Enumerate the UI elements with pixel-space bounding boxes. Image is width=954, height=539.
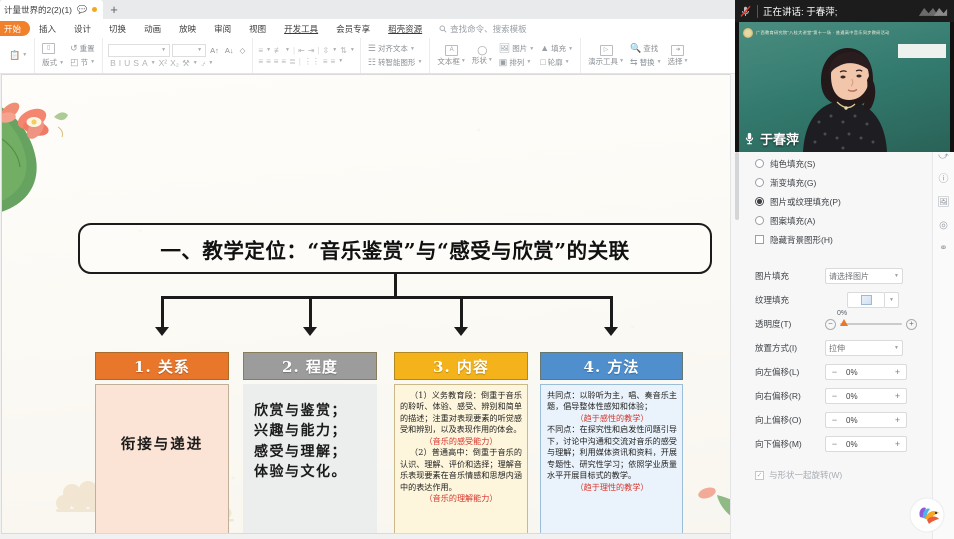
radio-picture-texture-fill-label: 图片或纹理填充(P)	[770, 196, 841, 208]
sort-icon[interactable]: ⇅	[340, 46, 347, 55]
column-4-paragraph: 不同点：在探究性和启发性问题引导下，讨论中沟通和交流对音乐的感受与理解；利用媒体…	[547, 424, 677, 481]
tab-review[interactable]: 审阅	[205, 23, 240, 35]
smart-art-icon: ☷	[368, 58, 376, 67]
picture-fill-label: 图片填充	[741, 270, 825, 282]
search-icon	[439, 25, 447, 33]
font-color-icon[interactable]: ⍻	[201, 59, 206, 68]
chevron-down-icon: ▼	[332, 47, 337, 53]
column-3-header[interactable]: 3. 内容	[394, 352, 528, 380]
chevron-down-icon: ▼	[684, 58, 689, 64]
paste-icon: 📋	[9, 51, 20, 60]
text-highlight-icon[interactable]: ⚒	[182, 59, 190, 68]
replace-button[interactable]: ⇆ 替换 ▼	[628, 57, 664, 68]
connector-drop-3	[460, 296, 463, 330]
column-1-header[interactable]: 1. 关系	[95, 352, 229, 380]
section-icon: ◰	[70, 58, 79, 67]
speaker-name-badge: 于春萍	[743, 129, 799, 148]
reset-button[interactable]: ↺ 重置	[68, 43, 97, 54]
select-icon: ➜	[671, 45, 684, 56]
ribbon-group-clipboard: 📋 ▼	[2, 38, 35, 73]
find-label: 查找	[643, 44, 658, 53]
offset-bottom-stepper[interactable]: − 0% +	[825, 436, 907, 452]
video-overlay[interactable]: 正在讲话: 于春萍; 广西教育研究院“八桂大讲堂”第十一场 · 普通高中音乐同步…	[735, 0, 954, 152]
select-label: 选择	[668, 57, 683, 66]
offset-left-stepper[interactable]: − 0% +	[825, 364, 907, 380]
column-2-header-label: 2. 程度	[282, 356, 338, 377]
tab-insert[interactable]: 插入	[30, 23, 65, 35]
placement-label: 放置方式(I)	[741, 342, 825, 354]
placement-row: 放置方式(I) 拉伸 ▼	[741, 337, 922, 359]
fill-label: 填充	[551, 44, 566, 53]
layout-button[interactable]: 版式 ▼	[40, 57, 66, 68]
texture-dropdown-button[interactable]: ▼	[885, 292, 899, 308]
search-icon: 🔍	[630, 44, 641, 53]
outline-label: 轮廓	[548, 58, 563, 67]
offset-right-label: 向右偏移(R)	[741, 390, 825, 402]
ribbon-group-text-align: ☰ 对齐文本 ▼ ☷ 转智能图形 ▼	[361, 38, 431, 73]
column-3-paragraph: （1）义务教育段：倒重于音乐的聆听、体验、感受、辨别和简单的描述；注重对表现要素…	[400, 390, 522, 436]
plus-icon[interactable]: +	[889, 392, 906, 401]
chevron-down-icon: ▼	[161, 47, 166, 53]
ribbon-group-tools: ▷ 演示工具 ▼ 🔍 查找 ⇆ 替换 ▼ ➜	[581, 38, 695, 73]
column-4-header-label: 4. 方法	[584, 356, 640, 377]
align-right-icon[interactable]: ≡	[274, 57, 279, 66]
chevron-down-icon: ▼	[410, 46, 415, 52]
shape-label: 形状	[472, 56, 487, 65]
checkbox-hide-background-graphics[interactable]: 隐藏背景图形(H)	[741, 230, 922, 249]
mic-muted-icon[interactable]	[739, 5, 752, 18]
fill-icon: ▲	[540, 44, 549, 53]
replace-icon: ⇆	[630, 58, 638, 67]
texture-fill-label: 纹理填充	[741, 294, 825, 306]
column-2-body[interactable]: 欣赏与鉴赏； 兴趣与能力； 感受与理解； 体验与文化。	[243, 384, 377, 533]
column-2-line: 感受与理解；	[254, 442, 370, 462]
texture-swatch-button[interactable]	[847, 292, 885, 308]
column-4-body[interactable]: 共同点：以聆听为主，唱、奏音乐主题，倡导整体性感知和体验； （趋于感性的教学） …	[540, 384, 683, 533]
shape-button[interactable]: ◯ 形状 ▼	[470, 45, 495, 66]
column-3-paragraph: （2）普通高中：倒重于音乐的认识、理解、评价和选择；理解音乐表现要素在音乐情感和…	[400, 447, 522, 493]
share-icon[interactable]: ⤻	[938, 152, 949, 162]
section-label: 节	[81, 58, 89, 67]
arrange-button[interactable]: ▣ 排列 ▼	[497, 57, 536, 68]
transparency-plus-button[interactable]: +	[906, 319, 917, 330]
checkbox-checked-icon: ✓	[755, 471, 764, 480]
reset-label: 重置	[80, 44, 95, 53]
chevron-down-icon: ▼	[208, 61, 213, 66]
chevron-down-icon: ▼	[568, 46, 573, 52]
column-3-red-tag: （音乐的感受能力）	[400, 436, 522, 447]
radio-gradient-fill[interactable]: 渐变填充(G)	[741, 173, 922, 192]
arrow-head-2-icon	[303, 327, 317, 336]
fill-button[interactable]: ▲ 填充 ▼	[538, 43, 575, 54]
column-3-red-tag: （音乐的理解能力）	[400, 493, 522, 504]
chevron-down-icon: ▼	[338, 58, 343, 64]
font-size-input[interactable]: ▼	[172, 44, 206, 57]
textbox-label: 文本框	[437, 57, 460, 66]
classroom-banner-text: 广西教育研究院“八桂大讲堂”第十一场 · 普通高中音乐同步教研活动	[756, 30, 890, 36]
page-title: 一、教学定位：“音乐鉴赏”与“感受与欣赏”的关联	[160, 234, 629, 264]
slider-track[interactable]	[840, 323, 902, 325]
textbox-button[interactable]: A 文本框 ▼	[435, 44, 467, 67]
radio-pattern-fill[interactable]: 图案填充(A)	[741, 211, 922, 230]
offset-top-stepper[interactable]: − 0% +	[825, 412, 907, 428]
radio-icon	[755, 178, 764, 187]
offset-top-value: 0%	[843, 416, 889, 425]
chevron-down-icon: ▼	[619, 58, 624, 64]
texture-fill-row: 纹理填充 ▼	[741, 289, 922, 311]
minus-icon[interactable]: −	[826, 368, 843, 377]
chevron-down-icon: ▼	[22, 52, 27, 58]
offset-bottom-label: 向下偏移(M)	[741, 438, 825, 450]
location-icon[interactable]: ◎	[939, 221, 948, 231]
column-3[interactable]: 3. 内容 （1）义务教育段：倒重于音乐的聆听、体验、感受、辨别和简单的描述；注…	[394, 352, 528, 533]
superscript-button[interactable]: X²	[159, 59, 168, 68]
radio-icon	[755, 216, 764, 225]
outline-button[interactable]: □ 轮廓 ▼	[538, 57, 575, 68]
numbered-list-icon[interactable]: ≢	[274, 46, 282, 55]
slide[interactable]: 一、教学定位：“音乐鉴赏”与“感受与欣赏”的关联 1. 关系 衔接与递进	[2, 75, 771, 533]
column-1[interactable]: 1. 关系 衔接与递进	[95, 352, 229, 533]
offset-right-row: 向右偏移(R) − 0% +	[741, 385, 922, 407]
connector-horizontal-bus	[162, 296, 611, 299]
tab-slideshow[interactable]: 放映	[170, 23, 205, 35]
speaking-status-label: 正在讲话: 于春萍;	[763, 4, 837, 18]
chevron-down-icon: ▼	[59, 60, 64, 66]
tab-design[interactable]: 设计	[65, 23, 100, 35]
align-objects-icon[interactable]: ≡	[331, 57, 336, 66]
section-button[interactable]: ◰ 节 ▼	[68, 57, 97, 68]
chevron-down-icon: ▼	[657, 59, 662, 65]
help-icon[interactable]: ⓘ	[939, 175, 949, 185]
align-text-button[interactable]: ☰ 对齐文本 ▼	[366, 43, 425, 54]
search-placeholder-text: 查找命令、搜索模板	[450, 23, 527, 35]
chevron-down-icon: ▼	[266, 47, 271, 53]
bullet-list-icon[interactable]: ≡	[258, 46, 263, 55]
divider	[757, 5, 758, 18]
column-1-text: 衔接与递进	[121, 433, 204, 454]
chevron-down-icon: ▼	[461, 58, 466, 64]
radio-solid-fill[interactable]: 纯色填充(S)	[741, 154, 922, 173]
offset-bottom-row: 向下偏移(M) − 0% +	[741, 433, 922, 455]
convert-smartart-button[interactable]: ☷ 转智能图形 ▼	[366, 57, 425, 68]
hide-background-graphics-label: 隐藏背景图形(H)	[770, 234, 833, 246]
minus-icon[interactable]: −	[826, 416, 843, 425]
textbox-icon: A	[445, 45, 458, 56]
ribbon-group-paragraph: ≡ ▼ ≢ ▼ | ⇤ ⇥ | ⇳ ▼ ⇅ ▼ ≡ ≡ ≡ ≡	[253, 38, 360, 73]
shape-icon: ◯	[477, 46, 487, 55]
increase-indent-icon[interactable]: ⇥	[308, 46, 315, 55]
shield-icon[interactable]: ⚭	[939, 244, 947, 254]
radio-selected-icon	[755, 197, 764, 206]
column-2-line: 体验与文化。	[254, 462, 370, 482]
increase-font-icon[interactable]: A↑	[208, 45, 221, 56]
minus-icon[interactable]: −	[826, 392, 843, 401]
text-direction-icon[interactable]: ≡	[323, 57, 328, 66]
chevron-down-icon: ▼	[90, 59, 95, 65]
connector-title-stem	[394, 274, 397, 296]
chevron-down-icon: ▼	[417, 59, 422, 65]
bird-logo-icon[interactable]	[909, 497, 945, 533]
arrange-icon: ▣	[499, 58, 508, 67]
column-4-red-tag: （趋于感性的教学）	[547, 413, 677, 424]
offset-top-row: 向上偏移(O) − 0% +	[741, 409, 922, 431]
decrease-font-icon[interactable]: A↓	[223, 45, 236, 56]
reset-icon: ↺	[70, 44, 78, 53]
placement-select[interactable]: 拉伸 ▼	[825, 340, 903, 356]
mic-icon	[743, 131, 756, 146]
column-2[interactable]: 2. 程度 欣赏与鉴赏； 兴趣与能力； 感受与理解； 体验与文化。	[243, 352, 377, 533]
radio-icon	[755, 159, 764, 168]
column-1-body[interactable]: 衔接与递进	[95, 384, 229, 533]
transparency-minus-button[interactable]: −	[825, 319, 836, 330]
tab-animation[interactable]: 动画	[135, 23, 170, 35]
offset-left-value: 0%	[843, 368, 889, 377]
picture-button[interactable]: 🖼 图片 ▼	[497, 43, 536, 54]
new-slide-icon: ▯	[42, 43, 55, 54]
ribbon-group-font: ▼ ▼ A↑ A↓ ◇ B I U S A ▼ X²	[103, 38, 253, 73]
radio-gradient-fill-label: 渐变填充(G)	[770, 177, 816, 189]
column-2-header[interactable]: 2. 程度	[243, 352, 377, 380]
comment-icon[interactable]: 💬	[77, 6, 87, 14]
replace-label: 替换	[640, 58, 655, 67]
tab-docer-resources[interactable]: 稻壳资源	[379, 23, 431, 35]
paste-button[interactable]: 📋 ▼	[7, 50, 29, 61]
column-3-header-label: 3. 内容	[433, 356, 489, 377]
plus-icon[interactable]: +	[103, 0, 125, 19]
video-feed[interactable]: 广西教育研究院“八桂大讲堂”第十一场 · 普通高中音乐同步教研活动	[739, 22, 950, 152]
placement-value: 拉伸	[829, 343, 845, 354]
radio-pattern-fill-label: 图案填充(A)	[770, 215, 815, 227]
arrow-head-1-icon	[155, 327, 169, 336]
chevron-down-icon: ▼	[488, 57, 493, 63]
connector-drop-2	[309, 296, 312, 330]
italic-button[interactable]: I	[119, 59, 121, 68]
chevron-down-icon: ▼	[151, 61, 156, 66]
arrange-label: 排列	[509, 58, 524, 67]
arrow-head-3-icon	[454, 327, 468, 336]
underline-button[interactable]: U	[124, 59, 130, 68]
offset-right-value: 0%	[843, 392, 889, 401]
bold-button[interactable]: B	[110, 59, 116, 68]
align-distribute-icon[interactable]: ≣	[289, 57, 296, 66]
column-4[interactable]: 4. 方法 共同点：以聆听为主，唱、奏音乐主题，倡导整体性感知和体验； （趋于感…	[540, 352, 683, 533]
image-tools-icon[interactable]: 🖼	[937, 198, 950, 208]
panel-scrollbar[interactable]	[735, 152, 739, 220]
column-4-paragraph: 共同点：以聆听为主，唱、奏音乐主题，倡导整体性感知和体验；	[547, 390, 677, 413]
present-tools-label: 演示工具	[588, 57, 618, 66]
tab-home[interactable]: 开始	[0, 21, 30, 36]
slider-thumb[interactable]	[840, 319, 848, 326]
align-text-icon: ☰	[368, 44, 376, 53]
slide-title-box[interactable]: 一、教学定位：“音乐鉴赏”与“感受与欣赏”的关联	[78, 223, 712, 274]
speaker-name: 于春萍	[760, 129, 799, 148]
connector-drop-1	[161, 296, 164, 330]
find-button[interactable]: 🔍 查找	[628, 43, 664, 54]
video-title-bar: 正在讲话: 于春萍;	[735, 0, 954, 22]
offset-bottom-value: 0%	[843, 440, 889, 449]
new-slide-button[interactable]: ▯	[40, 42, 66, 55]
clear-format-icon[interactable]: ◇	[238, 45, 248, 56]
arrow-head-4-icon	[604, 327, 618, 336]
picture-fill-value: 请选择图片	[829, 271, 869, 282]
offset-right-stepper[interactable]: − 0% +	[825, 388, 907, 404]
tab-member-exclusive[interactable]: 会员专享	[327, 23, 379, 35]
chevron-down-icon: ▼	[285, 47, 290, 53]
checkbox-rotate-with-shape[interactable]: ✓ 与形状一起旋转(W)	[741, 469, 922, 481]
transparency-slider[interactable]: − 0% +	[825, 319, 917, 330]
transparency-value: 0%	[837, 310, 847, 317]
chevron-down-icon: ▼	[894, 345, 899, 351]
column-2-line: 兴趣与能力；	[254, 421, 370, 441]
present-tools-button[interactable]: ▷ 演示工具 ▼	[586, 44, 626, 67]
transparency-row: 透明度(T) − 0% +	[741, 313, 922, 335]
decrease-indent-icon[interactable]: ⇤	[298, 46, 305, 55]
char-border-button[interactable]: A	[142, 59, 148, 68]
classroom-banner: 广西教育研究院“八桂大讲堂”第十一场 · 普通高中音乐同步教研活动	[743, 27, 946, 38]
select-button[interactable]: ➜ 选择 ▼	[666, 44, 691, 67]
offset-left-label: 向左偏移(L)	[741, 366, 825, 378]
picture-fill-row: 图片填充 请选择图片 ▼	[741, 265, 922, 287]
picture-label: 图片	[512, 44, 527, 53]
chevron-down-icon: ▼	[565, 59, 570, 65]
chevron-down-icon: ▼	[197, 47, 202, 53]
align-center-icon[interactable]: ≡	[266, 57, 271, 66]
column-1-header-label: 1. 关系	[134, 356, 190, 377]
picture-icon: 🖼	[499, 44, 510, 53]
column-4-header[interactable]: 4. 方法	[540, 352, 683, 380]
align-justify-icon[interactable]: ≡	[281, 57, 286, 66]
connector-drop-4	[610, 296, 613, 330]
plus-icon[interactable]: +	[889, 368, 906, 377]
tab-developer-tools[interactable]: 开发工具	[275, 23, 327, 35]
plus-icon[interactable]: +	[889, 416, 906, 425]
transparency-label: 透明度(T)	[741, 318, 825, 330]
tab-view[interactable]: 视图	[240, 23, 275, 35]
meeting-logo-icon	[918, 5, 950, 18]
layout-label: 版式	[42, 58, 57, 67]
radio-picture-texture-fill[interactable]: 图片或纹理填充(P)	[741, 192, 922, 211]
column-3-body[interactable]: （1）义务教育段：倒重于音乐的聆听、体验、感受、辨别和简单的描述；注重对表现要素…	[394, 384, 528, 533]
radio-solid-fill-label: 纯色填充(S)	[770, 158, 815, 170]
texture-swatch-icon	[861, 295, 872, 305]
subscript-button[interactable]: X₂	[170, 59, 179, 68]
font-name-input[interactable]: ▼	[108, 44, 170, 57]
minus-icon[interactable]: −	[826, 440, 843, 449]
chevron-down-icon: ▼	[526, 59, 531, 65]
ribbon-group-insert: A 文本框 ▼ ◯ 形状 ▼ 🖼 图片 ▼	[430, 38, 581, 73]
checkbox-icon	[755, 235, 764, 244]
column-4-red-tag: （趋于理性的教学）	[547, 482, 677, 493]
line-spacing-icon[interactable]: ⇳	[323, 46, 330, 55]
document-tab-title: 计量世界的2(2)(1)	[4, 4, 72, 16]
column-2-line: 欣赏与鉴赏；	[254, 401, 370, 421]
app-window: 计量世界的2(2)(1) 💬 + 开始 插入 设计 切换 动画 放映 审阅 视图…	[0, 0, 954, 539]
chevron-down-icon: ▼	[350, 47, 355, 53]
present-tools-icon: ▷	[600, 45, 613, 56]
ribbon-group-slides: ▯ 版式 ▼ ↺ 重置 ◰ 节 ▼	[35, 38, 103, 73]
picture-fill-select[interactable]: 请选择图片 ▼	[825, 268, 903, 284]
align-left-icon[interactable]: ≡	[258, 57, 263, 66]
tab-transition[interactable]: 切换	[100, 23, 135, 35]
rotate-with-shape-label: 与形状一起旋转(W)	[769, 469, 842, 481]
institution-seal-icon	[743, 28, 753, 38]
unsaved-dot-icon	[92, 7, 97, 12]
plus-icon[interactable]: +	[889, 440, 906, 449]
strikethrough-button[interactable]: S	[133, 59, 139, 68]
chevron-down-icon: ▼	[193, 61, 198, 66]
document-tab[interactable]: 计量世界的2(2)(1) 💬	[0, 0, 103, 19]
columns-icon[interactable]: ⋮⋮	[304, 57, 320, 66]
search-command-box[interactable]: 查找命令、搜索模板	[439, 23, 527, 35]
offset-top-label: 向上偏移(O)	[741, 414, 825, 426]
outline-icon: □	[540, 58, 545, 67]
offset-left-row: 向左偏移(L) − 0% +	[741, 361, 922, 383]
board-highlight	[898, 44, 946, 58]
align-text-label: 对齐文本	[378, 44, 408, 53]
speaker-video-figure	[785, 46, 905, 152]
smart-art-label: 转智能图形	[378, 58, 416, 67]
chevron-down-icon: ▼	[529, 46, 534, 52]
chevron-down-icon: ▼	[894, 273, 899, 279]
